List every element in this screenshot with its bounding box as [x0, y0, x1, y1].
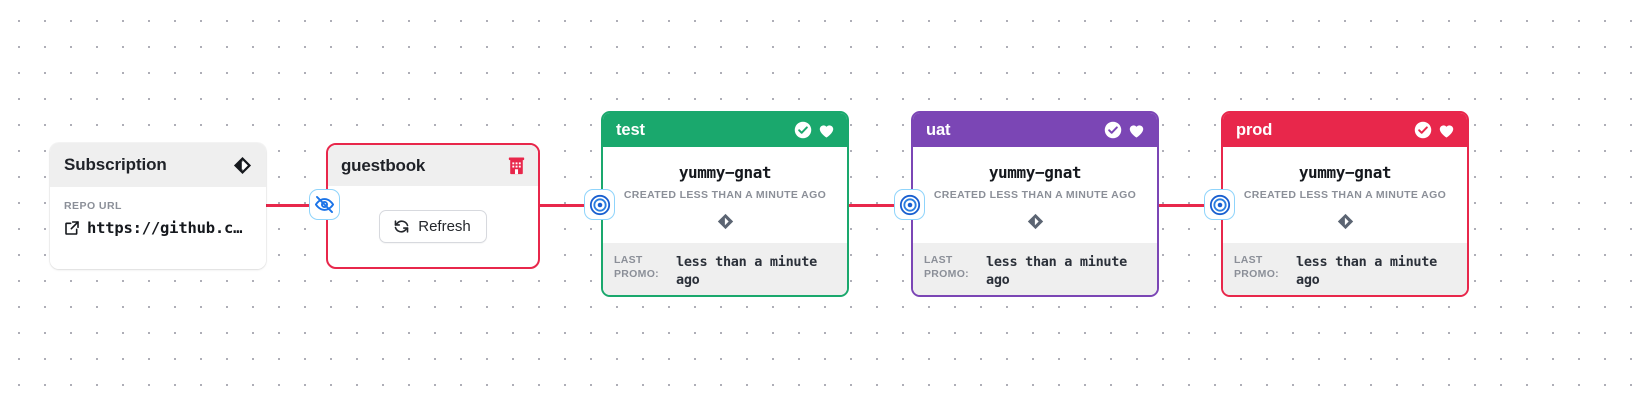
stage-header-uat: uat — [913, 113, 1157, 147]
building-icon — [508, 157, 525, 175]
stage-footer-uat: LAST PROMO: less than a minute ago — [913, 243, 1157, 295]
stage-card-prod[interactable]: prod yummy−gnat CREATED LESS THAN A MINU… — [1221, 111, 1469, 297]
last-promo-label: LAST PROMO: — [924, 253, 976, 281]
git-icon — [1337, 213, 1354, 230]
stage-created-prod: CREATED LESS THAN A MINUTE AGO — [1223, 189, 1467, 201]
stage-footer-prod: LAST PROMO: less than a minute ago — [1223, 243, 1467, 295]
stage-app-name-prod: yummy−gnat — [1223, 163, 1467, 182]
stage-created-test: CREATED LESS THAN A MINUTE AGO — [603, 189, 847, 201]
target-icon — [1209, 194, 1231, 216]
last-promo-value: less than a minute ago — [676, 253, 837, 289]
stage-body-test: yummy−gnat CREATED LESS THAN A MINUTE AG… — [603, 147, 847, 245]
stage-header-icons-uat — [1104, 121, 1146, 140]
target-icon — [899, 194, 921, 216]
heart-icon[interactable] — [1127, 121, 1146, 140]
stage-app-name-test: yummy−gnat — [603, 163, 847, 182]
stage-git-row-prod — [1223, 213, 1467, 230]
target-node-test[interactable] — [584, 189, 615, 220]
stage-card-test[interactable]: test yummy−gnat CREATED LESS THAN A MINU… — [601, 111, 849, 297]
git-icon — [233, 156, 252, 175]
pipeline-canvas: Subscription REPO URL — [0, 0, 1641, 402]
stage-body-prod: yummy−gnat CREATED LESS THAN A MINUTE AG… — [1223, 147, 1467, 245]
app-title: guestbook — [341, 156, 425, 176]
app-card-guestbook[interactable]: guestbook — [326, 143, 540, 269]
repo-url-value-row[interactable]: https://github.c… — [64, 219, 252, 237]
stage-name-test: test — [616, 121, 645, 140]
stage-git-row-uat — [913, 213, 1157, 230]
subscription-card[interactable]: Subscription REPO URL — [50, 143, 266, 269]
check-circle-icon[interactable] — [1414, 121, 1432, 139]
stage-header-icons-test — [794, 121, 836, 140]
refresh-button-label: Refresh — [418, 218, 471, 235]
repo-url-label: REPO URL — [64, 200, 252, 212]
check-circle-icon[interactable] — [1104, 121, 1122, 139]
app-card-header: guestbook — [328, 145, 538, 186]
stage-name-uat: uat — [926, 121, 950, 140]
stage-name-prod: prod — [1236, 121, 1272, 140]
target-icon — [589, 194, 611, 216]
last-promo-label: LAST PROMO: — [1234, 253, 1286, 281]
eye-off-node[interactable] — [309, 189, 340, 220]
stage-header-icons-prod — [1414, 121, 1456, 140]
external-link-icon — [64, 220, 80, 236]
repo-url-text: https://github.c… — [87, 219, 242, 237]
subscription-title: Subscription — [64, 155, 167, 175]
target-node-prod[interactable] — [1204, 189, 1235, 220]
heart-icon[interactable] — [817, 121, 836, 140]
stage-app-name-uat: yummy−gnat — [913, 163, 1157, 182]
check-circle-icon[interactable] — [794, 121, 812, 139]
target-node-uat[interactable] — [894, 189, 925, 220]
last-promo-label: LAST PROMO: — [614, 253, 666, 281]
stage-git-row-test — [603, 213, 847, 230]
refresh-icon — [393, 218, 410, 235]
subscription-card-header: Subscription — [50, 143, 266, 187]
stage-created-uat: CREATED LESS THAN A MINUTE AGO — [913, 189, 1157, 201]
git-icon — [717, 213, 734, 230]
stage-footer-test: LAST PROMO: less than a minute ago — [603, 243, 847, 295]
git-icon — [1027, 213, 1044, 230]
subscription-card-body: REPO URL https://github.c… — [50, 187, 266, 269]
app-card-body: Refresh — [328, 186, 538, 266]
stage-card-uat[interactable]: uat yummy−gnat CREATED LESS THAN A MINUT… — [911, 111, 1159, 297]
heart-icon[interactable] — [1437, 121, 1456, 140]
refresh-button[interactable]: Refresh — [379, 210, 487, 243]
stage-body-uat: yummy−gnat CREATED LESS THAN A MINUTE AG… — [913, 147, 1157, 245]
eye-off-icon — [314, 194, 335, 215]
last-promo-value: less than a minute ago — [986, 253, 1147, 289]
stage-header-prod: prod — [1223, 113, 1467, 147]
stage-header-test: test — [603, 113, 847, 147]
last-promo-value: less than a minute ago — [1296, 253, 1457, 289]
